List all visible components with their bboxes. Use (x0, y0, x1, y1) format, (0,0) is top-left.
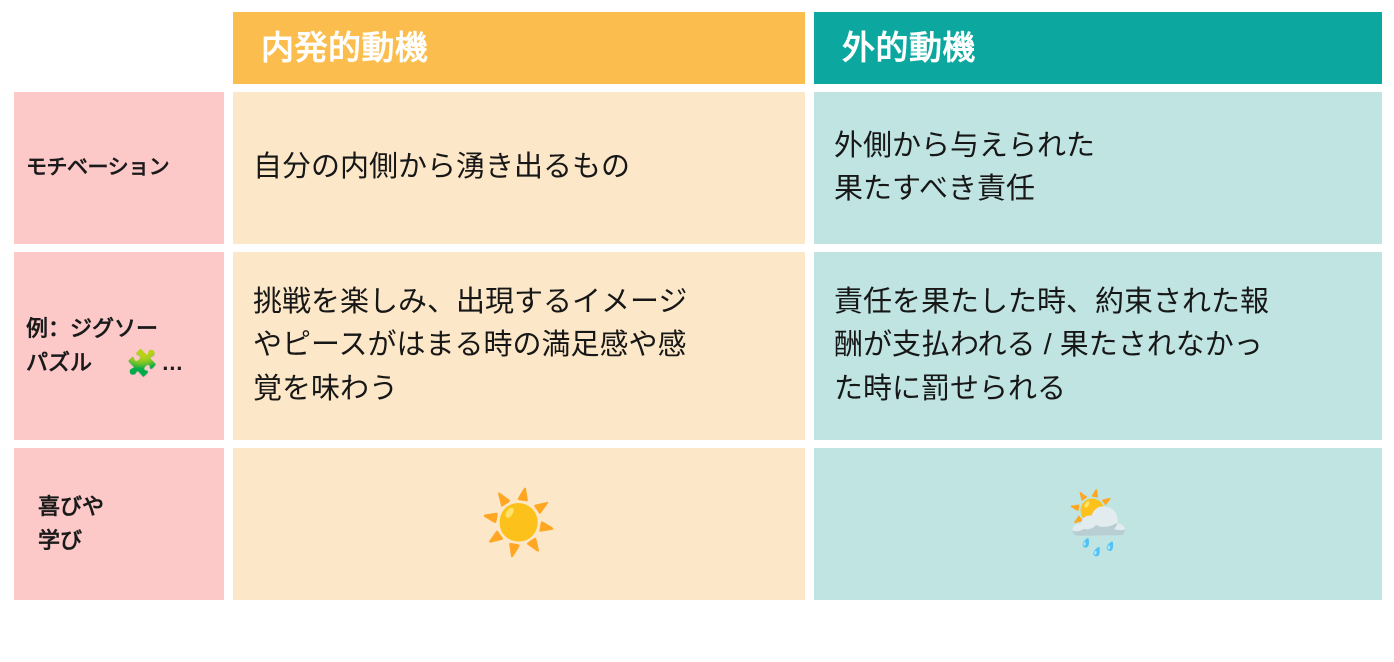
row-gap (224, 84, 233, 92)
column-gap (224, 252, 233, 440)
cell-text-line: 外側から与えられた (834, 125, 1368, 169)
cell-text-line: 責任を果たした時、約束された報 (834, 281, 1368, 325)
row-gap (224, 440, 233, 448)
row-gap (14, 244, 224, 252)
row-label-line: 学び (38, 524, 214, 558)
header-intrinsic-motivation: 内発的動機 (233, 12, 805, 84)
cell-text-line: 覚を味わう (253, 368, 791, 412)
cell-motivation-extrinsic: 外側から与えられた 果たすべき責任 (814, 92, 1382, 244)
column-gap (805, 448, 814, 600)
row-gap (233, 440, 805, 448)
row-gap (14, 84, 224, 92)
row-label-line-with-icon: パズル 🧩 … (26, 346, 214, 380)
column-gap (224, 92, 233, 244)
row-gap (814, 440, 1382, 448)
column-gap (805, 12, 814, 84)
row-label-line: モチベーション (26, 152, 214, 185)
cell-text-line: やピースがはまる時の満足感や感 (253, 324, 791, 368)
row-gap (805, 84, 814, 92)
cell-example-extrinsic: 責任を果たした時、約束された報 酬が支払われる / 果たされなかっ た時に罰せら… (814, 252, 1382, 440)
row-label-example-jigsaw: 例：ジグソー パズル 🧩 … (14, 252, 224, 440)
row-gap (233, 244, 805, 252)
column-gap (224, 448, 233, 600)
cell-text-line: 果たすべき責任 (834, 168, 1368, 212)
column-gap (805, 252, 814, 440)
cell-text-line: た時に罰せられる (834, 368, 1368, 412)
row-label-joy-learning: 喜びや 学び (14, 448, 224, 600)
row-gap (233, 84, 805, 92)
column-gap (224, 12, 233, 84)
row-gap (224, 244, 233, 252)
row-label-line: 喜びや (38, 490, 214, 524)
header-extrinsic-motivation: 外的動機 (814, 12, 1382, 84)
row-gap (14, 440, 224, 448)
cell-text-line: 酬が支払われる / 果たされなかっ (834, 324, 1368, 368)
cell-joy-extrinsic: 🌦️ (814, 448, 1382, 600)
ellipsis-text: … (161, 346, 184, 380)
row-gap (814, 244, 1382, 252)
row-label-line: 例：ジグソー (26, 312, 214, 346)
cell-text-line: 自分の内側から湧き出るもの (253, 146, 791, 190)
header-corner-cell (14, 12, 224, 84)
row-label-line: パズル (26, 346, 92, 380)
column-gap (805, 92, 814, 244)
row-gap (805, 440, 814, 448)
sun-behind-rain-cloud-icon: 🌦️ (1059, 493, 1136, 555)
cell-text-line: 挑戦を楽しみ、出現するイメージ (253, 281, 791, 325)
puzzle-piece-icon: 🧩 (126, 350, 158, 376)
cell-joy-intrinsic: ☀️ (233, 448, 805, 600)
motivation-comparison-table: 内発的動機 外的動機 モチベーション 自分の内側から湧き出るもの 外側から与えら… (0, 0, 1394, 662)
row-label-motivation: モチベーション (14, 92, 224, 244)
row-gap (814, 84, 1382, 92)
table-grid: 内発的動機 外的動機 モチベーション 自分の内側から湧き出るもの 外側から与えら… (14, 12, 1382, 600)
cell-example-intrinsic: 挑戦を楽しみ、出現するイメージ やピースがはまる時の満足感や感 覚を味わう (233, 252, 805, 440)
sun-icon: ☀️ (480, 493, 557, 555)
cell-motivation-intrinsic: 自分の内側から湧き出るもの (233, 92, 805, 244)
row-gap (805, 244, 814, 252)
